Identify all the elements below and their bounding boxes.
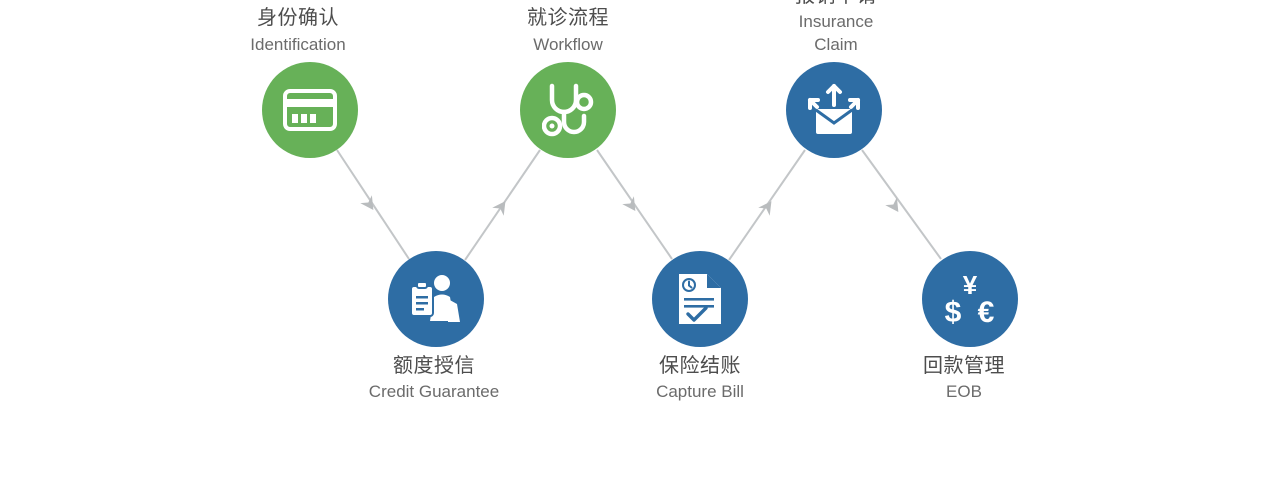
node-label-en-eob: EOB — [844, 381, 1084, 403]
node-circle-insurance-claim[interactable] — [786, 62, 882, 158]
arrow-insurance-claim-eob — [885, 197, 904, 216]
document-check-icon — [675, 271, 725, 327]
diagram-canvas: 身份确认 Identification — [0, 0, 1270, 498]
node-label-en-insurance-claim: Insurance Claim — [791, 11, 881, 56]
svg-text:€: € — [978, 296, 995, 328]
node-label-workflow: 就诊流程 Workflow — [448, 5, 688, 56]
connector-identification-credit-guarantee — [337, 150, 409, 259]
node-label-identification: 身份确认 Identification — [178, 5, 418, 56]
node-circle-workflow[interactable] — [520, 62, 616, 158]
node-label-en-credit-guarantee: Credit Guarantee — [314, 381, 554, 403]
node-label-credit-guarantee: 额度授信 Credit Guarantee — [314, 353, 554, 404]
node-circle-eob[interactable]: ¥ $ € — [922, 251, 1018, 347]
node-label-insurance-claim: 报销申请 Insurance Claim — [716, 0, 956, 56]
node-label-cn-workflow: 就诊流程 — [448, 5, 688, 31]
connector-insurance-claim-eob — [862, 150, 941, 259]
node-circle-credit-guarantee[interactable] — [388, 251, 484, 347]
node-circle-identification[interactable] — [262, 62, 358, 158]
node-label-en-workflow: Workflow — [448, 34, 688, 56]
currency-symbols-icon: ¥ $ € — [940, 270, 1000, 328]
envelope-arrows-icon — [805, 83, 863, 137]
node-label-cn-eob: 回款管理 — [844, 353, 1084, 379]
connector-layer — [0, 0, 1270, 498]
node-label-capture-bill: 保险结账 Capture Bill — [580, 353, 820, 404]
node-label-en-identification: Identification — [178, 34, 418, 56]
node-label-cn-identification: 身份确认 — [178, 5, 418, 31]
svg-text:$: $ — [945, 296, 962, 328]
stethoscope-icon — [542, 82, 594, 138]
clipboard-person-icon — [408, 273, 464, 325]
node-label-cn-insurance-claim: 报销申请 — [716, 0, 956, 9]
svg-text:¥: ¥ — [963, 270, 978, 300]
node-label-cn-capture-bill: 保险结账 — [580, 353, 820, 379]
credit-card-icon — [283, 89, 337, 131]
node-circle-capture-bill[interactable] — [652, 251, 748, 347]
node-label-en-capture-bill: Capture Bill — [580, 381, 820, 403]
arrow-credit-guarantee-workflow — [492, 197, 511, 216]
node-label-cn-credit-guarantee: 额度授信 — [314, 353, 554, 379]
node-label-eob: 回款管理 EOB — [844, 353, 1084, 404]
